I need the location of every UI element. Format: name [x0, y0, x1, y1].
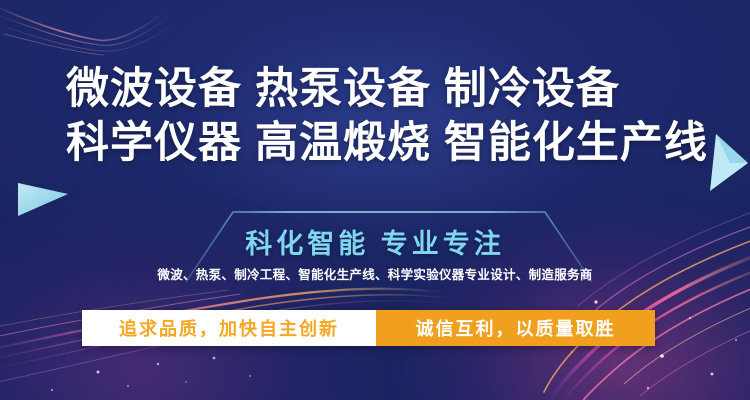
promo-banner: 微波设备 热泵设备 制冷设备 科学仪器 高温煅烧 智能化生产线 科化智能 专业专…	[0, 0, 750, 400]
headline-line-2: 科学仪器 高温煅烧 智能化生产线	[66, 116, 706, 170]
cyan-arrow-right-icon	[710, 134, 748, 191]
description-line: 微波、热泵、制冷工程、智能化生产线、科学实验仪器专业设计、制造服务商	[0, 264, 750, 283]
slogan-right: 诚信互利，以质量取胜	[376, 310, 655, 346]
slogan-strip: 追求品质，加快自主创新 诚信互利，以质量取胜	[82, 310, 655, 346]
top-left-streaks	[0, 4, 186, 55]
headline-line-1: 微波设备 热泵设备 制冷设备	[66, 62, 706, 116]
cyan-triangle-left-icon	[18, 183, 68, 216]
slogan-left: 追求品质，加快自主创新	[82, 310, 376, 346]
subtitle: 科化智能 专业专注	[0, 222, 750, 261]
page-title: 微波设备 热泵设备 制冷设备 科学仪器 高温煅烧 智能化生产线	[66, 62, 706, 170]
cyan-arrow-right-facet-icon	[716, 134, 748, 163]
